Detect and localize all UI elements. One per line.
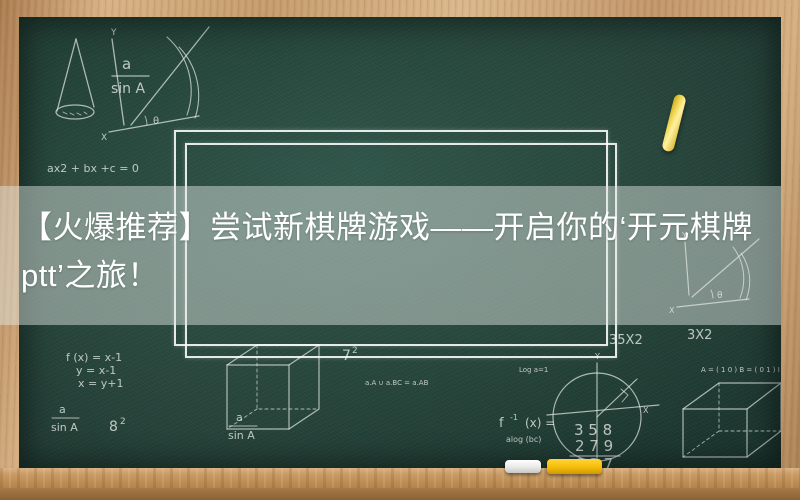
cube-drawing-right <box>683 383 781 457</box>
svg-text:Y: Y <box>110 28 117 38</box>
log-label: Log a=1 <box>519 366 548 374</box>
svg-text:sin A: sin A <box>228 429 255 442</box>
svg-text:sin A: sin A <box>111 81 146 97</box>
angle-diagram-left: Y X θ <box>101 27 209 143</box>
svg-text:8: 8 <box>109 419 118 435</box>
svg-text:sin A: sin A <box>51 421 78 434</box>
svg-text:(x) =: (x) = <box>525 416 555 430</box>
chalk-stick-yellow-ledge <box>547 459 602 474</box>
svg-text:a: a <box>122 55 131 73</box>
term-3x2: 3X2 <box>687 328 712 343</box>
cone-drawing <box>56 39 94 119</box>
power-eight-squared: 8 2 <box>109 417 126 435</box>
svg-text:2: 2 <box>120 417 126 427</box>
svg-text:-1: -1 <box>510 413 518 422</box>
fraction-a-over-sinA-bottomleft: a sin A <box>51 403 79 434</box>
svg-text:x = y+1: x = y+1 <box>78 377 123 390</box>
svg-text:f (x) = x-1: f (x) = x-1 <box>66 351 122 364</box>
set-notation: a.A ∪ a.BC = a.AB <box>365 379 429 387</box>
quadratic-equation: ax2 + bx +c = 0 <box>47 162 139 175</box>
svg-text:X: X <box>101 133 107 143</box>
fraction-a-over-sinA-topleft: a sin A <box>111 55 149 97</box>
svg-text:2 7 9: 2 7 9 <box>575 437 613 455</box>
svg-text:y = x-1: y = x-1 <box>76 364 116 377</box>
function-equations: f (x) = x-1 y = x-1 x = y+1 <box>66 351 123 390</box>
svg-text:X: X <box>643 406 649 415</box>
fraction-a-over-sinA-bottomcenter: a sin A <box>228 411 257 442</box>
circle-axes-diagram: Y X <box>547 352 659 461</box>
svg-text:θ: θ <box>153 116 159 127</box>
log-expression: alog (bc) <box>506 435 541 444</box>
banner-image: a sin A ax2 + bx +c = 0 Y X θ f (x) = x-… <box>0 0 800 500</box>
chalk-stick-white-ledge <box>505 460 541 473</box>
matrix-notation: A = ( 1 0 ) B = ( 0 1 ) I = ( 1 0 ) <box>701 366 781 374</box>
caption-text: 【火爆推荐】尝试新棋牌游戏——开启你的‘开元棋牌ptt’之旅！ <box>0 186 781 325</box>
chalk-ledge-lip <box>0 488 800 500</box>
svg-text:3 5 8: 3 5 8 <box>574 421 612 439</box>
inverse-function: f -1 (x) = <box>499 413 555 431</box>
svg-text:a: a <box>59 403 66 416</box>
svg-text:f: f <box>499 416 504 431</box>
svg-text:a: a <box>236 411 243 424</box>
